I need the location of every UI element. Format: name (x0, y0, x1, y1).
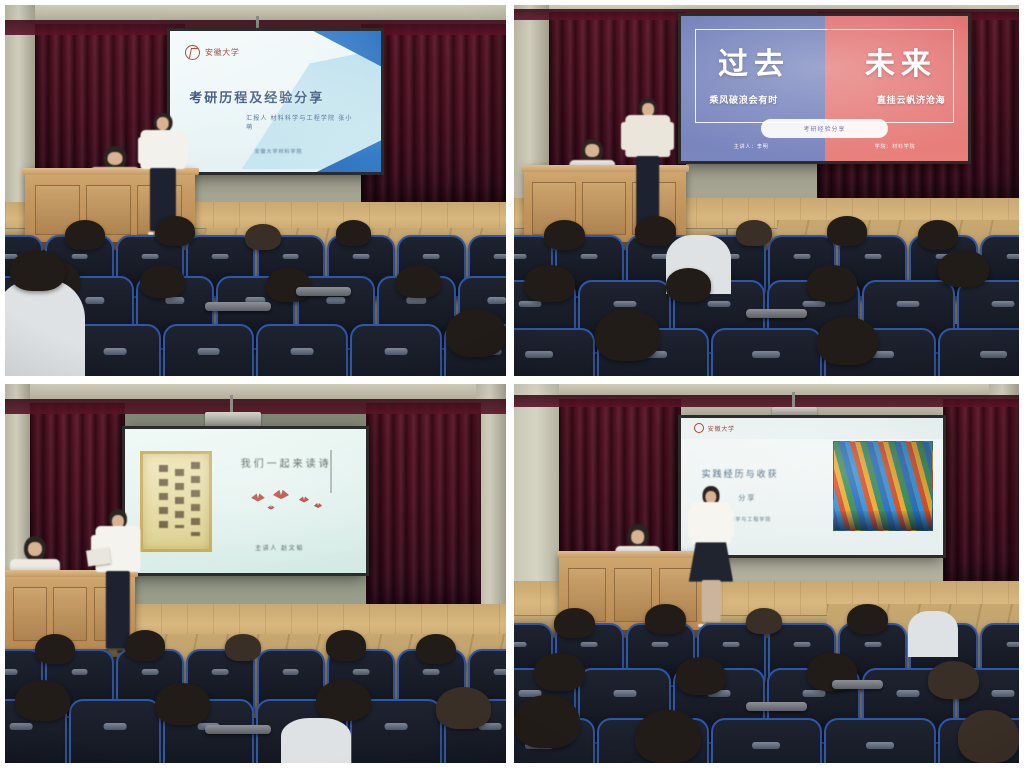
audience-head (827, 216, 867, 246)
projection-screen: 过去 未来 乘风破浪会有时 直挂云帆济沧海 考研经验分享 主讲人：李明 学院：材… (681, 16, 969, 161)
podium-panel (582, 182, 626, 235)
audience-head (544, 220, 584, 250)
audience-head (446, 309, 506, 357)
slide-content-top-right: 过去 未来 乘风破浪会有时 直挂云帆济沧海 考研经验分享 主讲人：李明 学院：材… (681, 16, 969, 161)
slide-title: 考研历程及经验分享 (189, 87, 332, 106)
slide-footer: 安徽大学材料学院 (254, 148, 302, 155)
audience-head (746, 608, 781, 635)
university-logo-icon (185, 45, 200, 60)
calligraphy-scroll (140, 451, 212, 552)
slide-logo-text: 安徽大学 (205, 47, 239, 58)
audience-head (928, 661, 979, 699)
bird-illustration (250, 490, 332, 513)
university-logo-icon (694, 423, 704, 433)
audience-head (595, 309, 661, 361)
slide-credits: 主讲人：李明 学院：材料学院 (681, 143, 969, 150)
audience-head (336, 220, 371, 246)
projection-screen: 安徽大学 考研历程及经验分享 汇报人 材料科学与工程学院 张小萌 安徽大学材料学… (170, 31, 380, 172)
audience-head (10, 250, 65, 291)
seat (711, 718, 823, 763)
audience-head (65, 220, 105, 250)
slide-headline: 我们一起来读诗 (241, 455, 332, 470)
bird-icon (299, 496, 309, 502)
scroll-column (191, 462, 200, 536)
podium-panel (13, 587, 47, 641)
audience-head (534, 653, 585, 691)
seat-armrest (296, 287, 351, 296)
seat-row (514, 328, 1019, 376)
slide-title: 实践经历与收获 (702, 467, 818, 480)
auditorium-scene-bottom-left: 我们一起来读诗 主讲人 赵文韬 (5, 384, 506, 763)
seat-armrest (205, 725, 270, 734)
seat (514, 328, 595, 376)
scroll-column (175, 469, 184, 528)
bird-icon (267, 506, 274, 510)
stage-curtain-right (943, 399, 1019, 596)
slide-pill-label: 考研经验分享 (761, 119, 888, 138)
slide-photo (833, 441, 933, 531)
projector-mount-icon (792, 392, 795, 407)
projection-screen: 我们一起来读诗 主讲人 赵文韬 (125, 429, 365, 573)
wall-pillar-left (514, 384, 559, 596)
audience-head (524, 265, 575, 302)
panel-top-right[interactable]: 过去 未来 乘风破浪会有时 直挂云帆济沧海 考研经验分享 主讲人：李明 学院：材… (510, 0, 1024, 380)
stage-curtain-right (366, 403, 481, 619)
audience-head (266, 268, 311, 301)
audience-head (817, 317, 878, 365)
slide-line-past: 乘风破浪会有时 (709, 93, 778, 106)
speaker-arm-right (725, 509, 735, 537)
bird-icon (314, 503, 322, 508)
audience-head (436, 687, 491, 729)
seat (69, 699, 161, 763)
scroll-column (159, 465, 168, 531)
bird-icon (273, 490, 289, 499)
speaker-legs (702, 580, 721, 622)
audience-head (225, 634, 260, 661)
audience-person (908, 611, 959, 656)
slide-line-future: 直挂云帆济沧海 (877, 93, 946, 106)
slide-vertical-rule (330, 450, 332, 493)
seat (256, 324, 348, 376)
panel-bottom-right[interactable]: 安徽大学 实践经历与收获 分享 材料科学与工程学院 2023 年度总结 (510, 380, 1024, 768)
host-face (108, 152, 123, 165)
slide-subtitle: 汇报人 材料科学与工程学院 张小萌 (246, 113, 355, 131)
audience-head (918, 220, 958, 250)
speaker-arm-left (138, 137, 148, 164)
speaker-arm-left (688, 509, 698, 537)
audience-head (958, 710, 1019, 763)
speaker-arm-right (178, 137, 188, 164)
slide-presenter-label: 主讲人 赵文韬 (255, 543, 304, 552)
host-face (631, 530, 645, 543)
seat (711, 328, 823, 376)
panel-top-left[interactable]: 安徽大学 考研历程及经验分享 汇报人 材料科学与工程学院 张小萌 安徽大学材料学… (0, 0, 510, 380)
audience-head (666, 268, 711, 301)
audience-head (676, 657, 727, 695)
seat-armrest (746, 309, 807, 318)
photo-collage: 安徽大学 考研历程及经验分享 汇报人 材料科学与工程学院 张小萌 安徽大学材料学… (0, 0, 1024, 768)
seat-row (514, 718, 1019, 763)
host-face (28, 542, 42, 556)
podium-top (557, 551, 709, 558)
auditorium-scene-top-left: 安徽大学 考研历程及经验分享 汇报人 材料科学与工程学院 张小萌 安徽大学材料学… (5, 5, 506, 376)
audience-head (326, 630, 366, 660)
audience-head (155, 216, 195, 246)
audience-head (807, 265, 858, 302)
audience-person (281, 718, 351, 763)
speaker-skirt (689, 542, 733, 581)
seat (163, 324, 255, 376)
slide-word-past: 过去 (718, 39, 790, 83)
audience-head (635, 216, 675, 246)
audience-head (416, 634, 456, 664)
slide-content-top-left: 安徽大学 考研历程及经验分享 汇报人 材料科学与工程学院 张小萌 安徽大学材料学… (170, 31, 380, 172)
auditorium-scene-bottom-right: 安徽大学 实践经历与收获 分享 材料科学与工程学院 2023 年度总结 (514, 384, 1019, 763)
slide-content-bottom-left: 我们一起来读诗 主讲人 赵文韬 (125, 429, 365, 573)
audience-head (245, 224, 280, 250)
auditorium-scene-top-right: 过去 未来 乘风破浪会有时 直挂云帆济沧海 考研经验分享 主讲人：李明 学院：材… (514, 5, 1019, 376)
audience-head (645, 604, 685, 634)
seat (824, 718, 936, 763)
bird-icon (251, 494, 265, 502)
audience-head (155, 683, 210, 725)
host-face (585, 144, 599, 157)
standing-speaker (691, 486, 731, 626)
audience-head (125, 630, 165, 660)
slide-brand-bar: 安徽大学 (681, 418, 944, 438)
slide-logo: 安徽大学 (185, 45, 239, 60)
curtain-valance (514, 395, 1019, 406)
audience-head (396, 265, 441, 298)
audience-head (938, 250, 989, 287)
slide-credit-left: 主讲人：李明 (734, 143, 769, 150)
speaker-face (156, 117, 169, 129)
seat-armrest (746, 702, 807, 711)
slide-subtitle: 分享 (738, 493, 756, 503)
seat-armrest (832, 680, 883, 689)
audience-head (514, 695, 580, 748)
audience-head (316, 680, 371, 722)
audience-head (35, 634, 75, 664)
audience-head (736, 220, 771, 246)
audience-person (5, 280, 85, 376)
seat (938, 328, 1019, 376)
audience-head (635, 710, 701, 763)
audience-head (847, 604, 887, 634)
stage-curtain-right (361, 24, 506, 217)
audience-head (15, 680, 70, 722)
slide-credit-right: 学院：材料学院 (875, 143, 916, 150)
audience-head (140, 265, 185, 298)
seat (350, 324, 442, 376)
speaker-legs (106, 571, 130, 649)
speaker-arm-left (621, 122, 632, 150)
slide-brand-text: 安徽大学 (708, 424, 735, 433)
seat-armrest (205, 302, 270, 311)
slide-word-future: 未来 (865, 39, 937, 83)
audience-head (554, 608, 594, 638)
speaker-arm-right (663, 122, 674, 150)
projector-icon (205, 412, 260, 427)
panel-bottom-left[interactable]: 我们一起来读诗 主讲人 赵文韬 (0, 380, 510, 768)
